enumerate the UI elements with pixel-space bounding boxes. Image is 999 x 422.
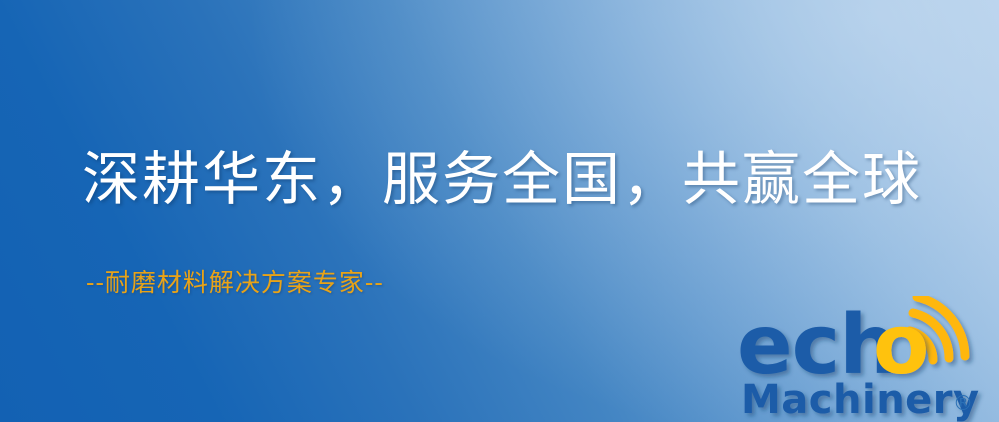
- echo-machinery-logo[interactable]: ech o Machinery ®: [737, 296, 999, 422]
- promo-banner: 深耕华东，服务全国，共赢全球 --耐磨材料解决方案专家-- ech o: [0, 0, 999, 422]
- page-subtitle: --耐磨材料解决方案专家--: [86, 268, 384, 298]
- logo-svg: ech o Machinery ®: [737, 296, 999, 422]
- wordmark-machinery: Machinery ®: [741, 377, 980, 422]
- page-title: 深耕华东，服务全国，共赢全球: [82, 148, 922, 212]
- registered-mark: ®: [953, 391, 973, 415]
- svg-text:Machinery: Machinery: [741, 377, 980, 422]
